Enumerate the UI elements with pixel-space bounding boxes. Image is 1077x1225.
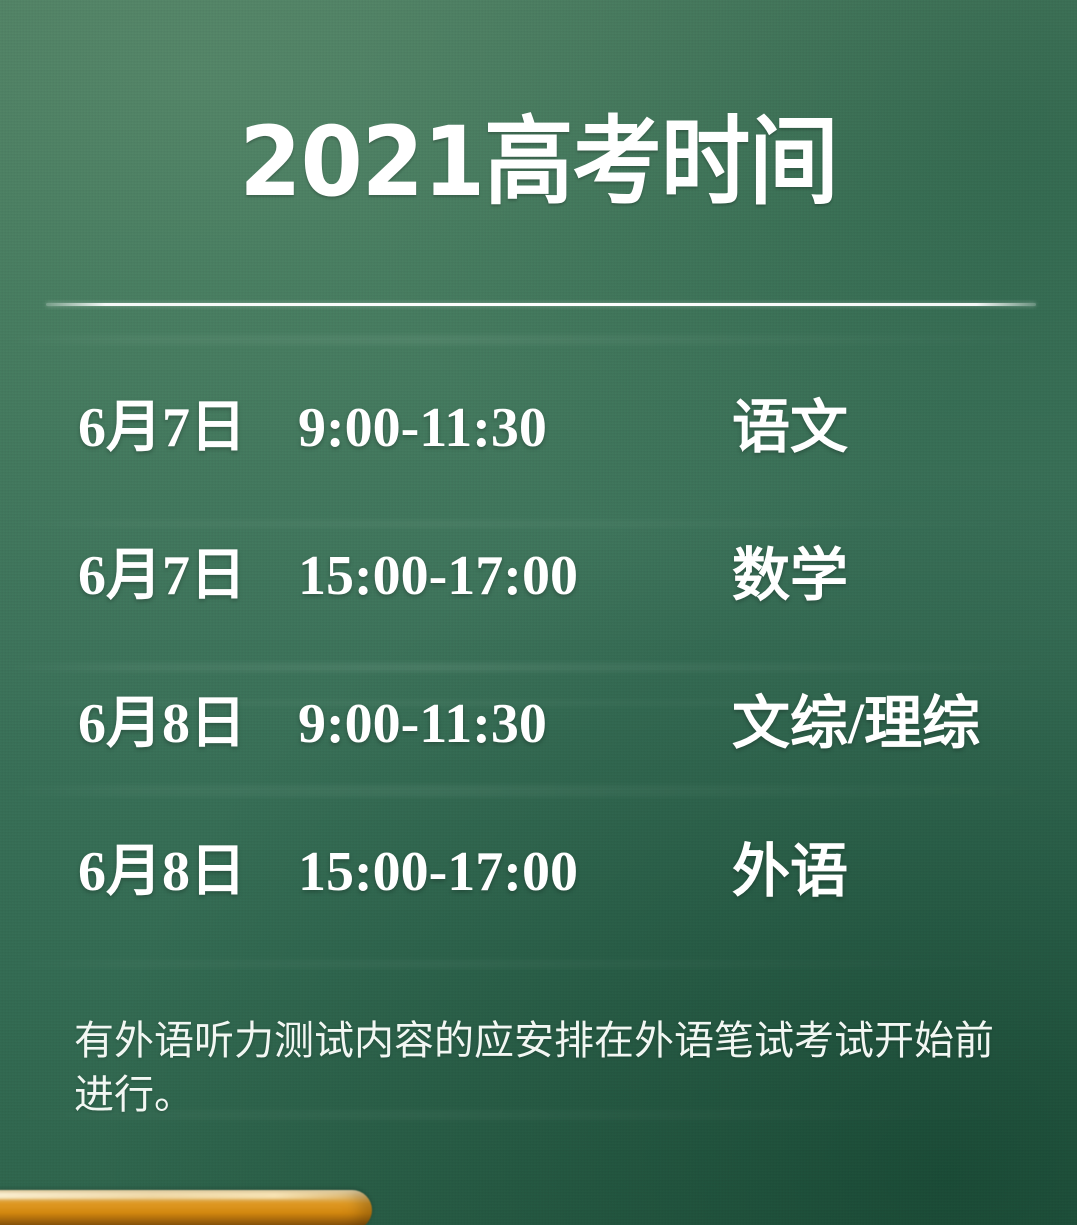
schedule-row: 6月7日 9:00-11:30 语文 bbox=[0, 392, 1077, 540]
schedule-time: 9:00-11:30 bbox=[298, 688, 547, 760]
schedule-date: 6月8日 bbox=[78, 836, 246, 908]
schedule-row: 6月7日 15:00-17:00 数学 bbox=[0, 540, 1077, 688]
schedule-subject: 数学 bbox=[732, 540, 848, 612]
chalk-smudge bbox=[0, 335, 1077, 345]
title-divider bbox=[46, 303, 1036, 306]
schedule-subject: 语文 bbox=[732, 392, 848, 464]
schedule-row: 6月8日 15:00-17:00 外语 bbox=[0, 836, 1077, 984]
schedule-time: 15:00-17:00 bbox=[298, 836, 578, 908]
page-title: 2021高考时间 bbox=[38, 112, 1040, 214]
schedule-date: 6月7日 bbox=[78, 540, 246, 612]
footnote-text: 有外语听力测试内容的应安排在外语笔试考试开始前进行。 bbox=[74, 1014, 994, 1122]
schedule-time: 15:00-17:00 bbox=[298, 540, 578, 612]
schedule-subject: 文综/理综 bbox=[732, 688, 980, 760]
schedule-list: 6月7日 9:00-11:30 语文 6月7日 15:00-17:00 数学 6… bbox=[0, 392, 1077, 984]
exam-schedule-poster: 2021高考时间 6月7日 9:00-11:30 语文 6月7日 15:00-1… bbox=[0, 0, 1077, 1225]
chalk-tray bbox=[0, 1190, 372, 1225]
schedule-time: 9:00-11:30 bbox=[298, 392, 547, 464]
schedule-date: 6月8日 bbox=[78, 688, 246, 760]
schedule-subject: 外语 bbox=[732, 836, 848, 908]
schedule-date: 6月7日 bbox=[78, 392, 246, 464]
schedule-row: 6月8日 9:00-11:30 文综/理综 bbox=[0, 688, 1077, 836]
